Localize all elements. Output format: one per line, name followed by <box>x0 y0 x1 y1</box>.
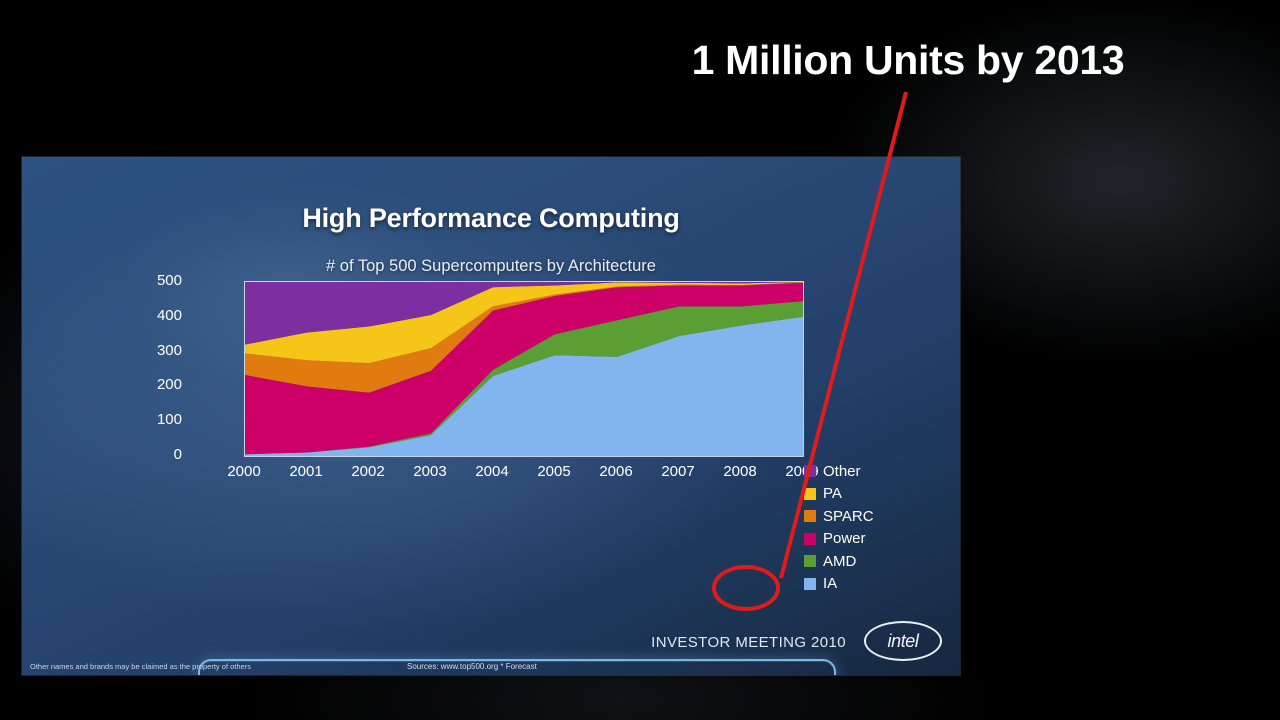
legend-item-sparc: SPARC <box>804 505 874 528</box>
chart-area: 0100200300400500 20002001200220032004200… <box>177 275 817 465</box>
legend-label: SPARC <box>823 508 874 525</box>
x-axis-tick-label: 2000 <box>227 463 260 480</box>
legend-label: IA <box>823 575 837 592</box>
legend-swatch-icon <box>804 488 816 500</box>
x-axis-ticks: 2000200120022003200420052006200720082009 <box>244 463 802 487</box>
x-axis-tick-label: 2007 <box>661 463 694 480</box>
disclaimer-text: Other names and brands may be claimed as… <box>30 662 251 671</box>
legend-swatch-icon <box>804 533 816 545</box>
legend-label: AMD <box>823 553 856 570</box>
x-axis-tick-label: 2002 <box>351 463 384 480</box>
plot-area <box>244 281 804 457</box>
legend-swatch-icon <box>804 510 816 522</box>
y-axis-tick-label: 300 <box>122 342 182 359</box>
x-axis-tick-label: 2001 <box>289 463 322 480</box>
legend-swatch-icon <box>804 555 816 567</box>
legend-item-other: Other <box>804 460 874 483</box>
x-axis-tick-label: 2003 <box>413 463 446 480</box>
legend-item-pa: PA <box>804 483 874 506</box>
intel-logo: intel <box>864 621 942 661</box>
legend-item-ia: IA <box>804 573 874 596</box>
y-axis-tick-label: 500 <box>122 272 182 289</box>
screenshot-root: 1 Million Units by 2013 High Performance… <box>0 0 1280 720</box>
y-axis-tick-label: 100 <box>122 411 182 428</box>
slide-title: High Performance Computing <box>22 203 960 234</box>
y-axis-tick-label: 0 <box>122 446 182 463</box>
presentation-slide: High Performance Computing # of Top 500 … <box>22 157 960 675</box>
legend-item-power: Power <box>804 528 874 551</box>
legend-label: Power <box>823 530 866 547</box>
investor-meeting-label: INVESTOR MEETING 2010 <box>651 634 846 651</box>
legend-label: Other <box>823 463 861 480</box>
legend-item-amd: AMD <box>804 550 874 573</box>
x-axis-tick-label: 2005 <box>537 463 570 480</box>
sources-text: Sources: www.top500.org * Forecast <box>407 662 537 671</box>
headline-text: 1 Million Units by 2013 <box>648 38 1168 83</box>
legend-swatch-icon <box>804 465 816 477</box>
legend-label: PA <box>823 485 842 502</box>
x-axis-tick-label: 2004 <box>475 463 508 480</box>
x-axis-tick-label: 2008 <box>723 463 756 480</box>
stacked-area-plot <box>245 282 803 456</box>
y-axis-tick-label: 400 <box>122 307 182 324</box>
chart-legend: OtherPASPARCPowerAMDIA <box>804 460 874 595</box>
y-axis-tick-label: 200 <box>122 376 182 393</box>
x-axis-tick-label: 2006 <box>599 463 632 480</box>
legend-swatch-icon <box>804 578 816 590</box>
